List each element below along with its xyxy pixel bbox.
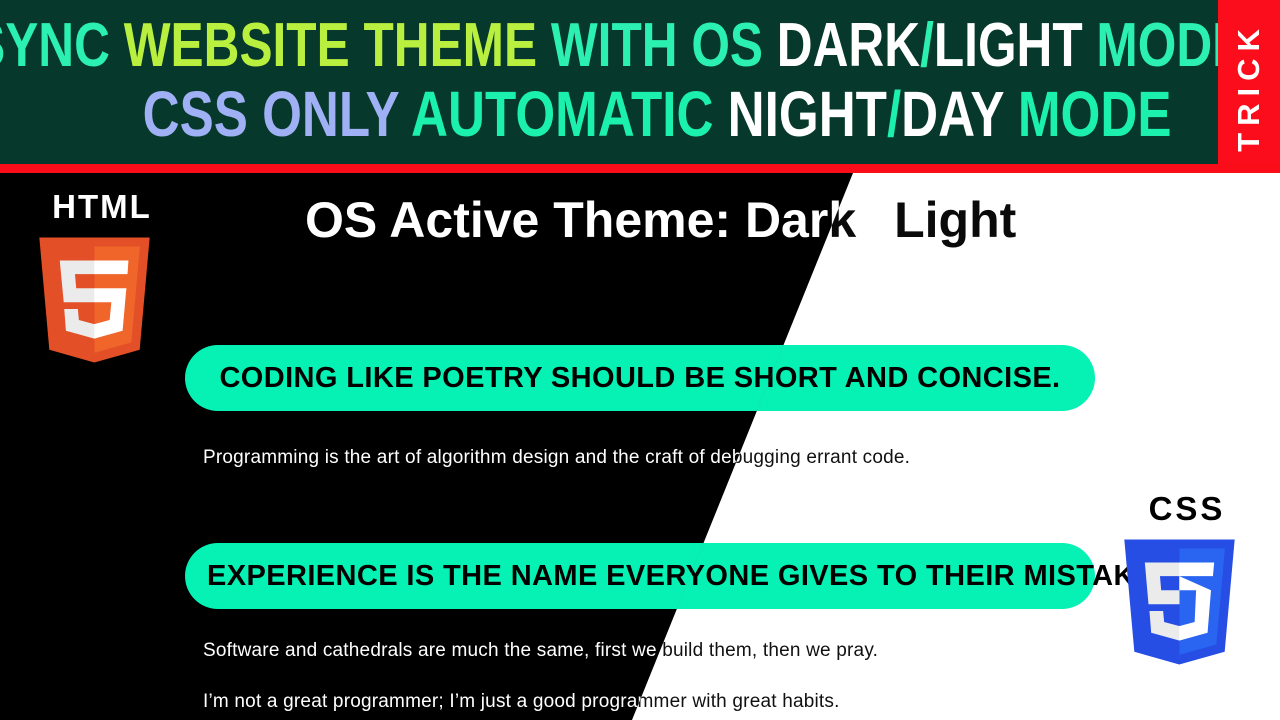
title-slash-2: / (887, 78, 901, 150)
trick-badge-label: TRICK (1231, 22, 1267, 152)
html5-logo-label: HTML (32, 190, 172, 223)
page-title-prefix: OS Active Theme: Dark (305, 192, 856, 248)
title-word-css-only: CSS ONLY (143, 78, 411, 150)
page-title-suffix-light: Light (894, 192, 1016, 248)
title-word-night: NIGHT (728, 78, 887, 150)
css3-logo-label: CSS (1117, 492, 1257, 525)
header-title-line-1: SYNC WEBSITE THEME WITH OS DARK/LIGHT MO… (0, 16, 1246, 77)
css3-shield-icon (1117, 531, 1242, 673)
title-slash-1: / (920, 11, 934, 80)
title-word-light: LIGHT (934, 11, 1097, 80)
header-title-block: SYNC WEBSITE THEME WITH OS DARK/LIGHT MO… (0, 0, 1218, 165)
title-word-with-os: WITH OS (551, 11, 777, 80)
title-word-dark: DARK (777, 11, 920, 80)
header-title-line-2: CSS ONLY AUTOMATIC NIGHT/DAY MODE (47, 83, 1172, 146)
video-thumbnail: SYNC WEBSITE THEME WITH OS DARK/LIGHT MO… (0, 0, 1280, 720)
title-word-day: DAY (901, 78, 1018, 150)
red-divider-strip (0, 164, 1280, 173)
title-word-website-theme: WEBSITE THEME (124, 11, 551, 80)
trick-badge: TRICK (1218, 0, 1280, 173)
html5-shield-icon (32, 229, 157, 371)
demo-viewport: OS Active Theme: DarkLight CODING LIKE P… (0, 173, 1280, 720)
html5-logo: HTML (32, 190, 172, 376)
header-banner: SYNC WEBSITE THEME WITH OS DARK/LIGHT MO… (0, 0, 1280, 173)
title-word-mode-2: MODE (1018, 78, 1172, 150)
title-word-automatic: AUTOMATIC (411, 78, 728, 150)
title-word-sync: SYNC (0, 11, 124, 80)
css3-logo: CSS (1117, 492, 1257, 678)
